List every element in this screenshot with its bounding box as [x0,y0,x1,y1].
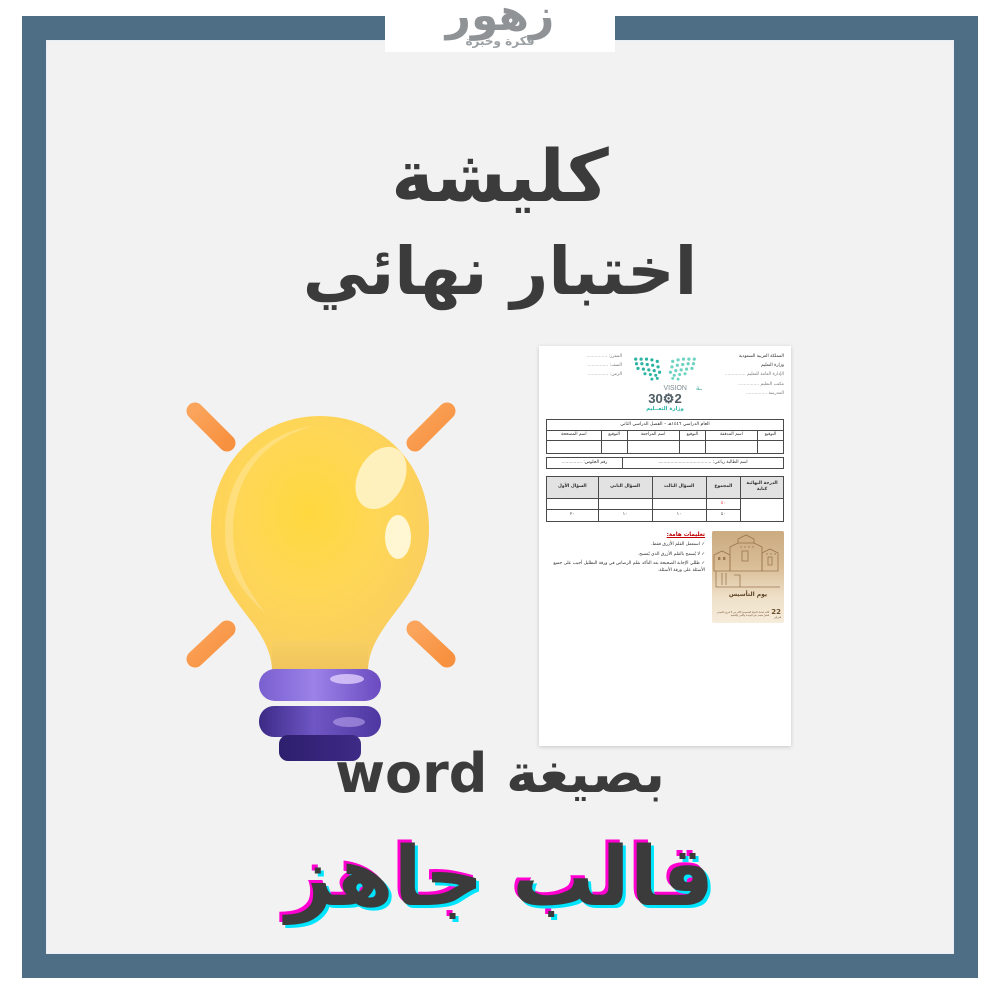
marks-q2-written[interactable] [598,498,652,510]
subtitle-format: بصيغة word [47,746,953,803]
doc-header-left-2: الزمن: ............... [546,372,622,379]
sig-head-4: التوقيع [601,430,627,440]
marks-head-3: السؤال الثاني [598,476,652,498]
exam-instructions: تعليمات هامة: ✓ استعمل القلم الأزرق فقط.… [546,531,707,577]
marks-q3-written[interactable] [652,498,706,510]
vision-ministry: وزارة التعــليم [646,406,684,412]
instruction-item-1: ✓ لا يُسمح بالقلم الأزرق الذي يُمسح. [546,552,705,558]
founding-day-label: يوم التأسيس [712,590,784,599]
bulb-cap-gloss-1 [330,674,364,684]
founding-day-date: 22 فبراير تأكيد امتداد الدولة السعودية ل… [715,609,781,619]
marks-q1-value: ٢٠ [547,510,599,522]
doc-header: المملكة العربية السعودية وزارة التعليم ا… [546,354,784,416]
sig-cell[interactable] [679,441,705,454]
marks-q3-value: ١٠ [652,510,706,522]
sig-head-3: اسم المراجعة [627,430,679,440]
poster-inner-page: كليشة اختبار نهائي [46,40,954,954]
marks-total-written[interactable]: ٤٠ [706,498,740,510]
table-row: الدرجة النهائية كتابة المجموع السؤال الث… [547,476,784,498]
marks-q2-value: ١٠ [598,510,652,522]
doc-header-right-3: مكتب التعليم ............... [708,382,784,389]
bulb-highlight-small [385,515,411,559]
lightbulb-illustration [155,341,495,761]
doc-header-right-2: الإدارة العامة للتعليم ............... [708,372,784,379]
founding-day-illustration: يوم التأسيس 22 فبراير تأكيد امتداد الدول… [712,531,784,623]
seat-number-field[interactable]: رقم الجلوس: ............... [547,458,623,468]
vision-2030-logo: VISION رؤيــة 2⚙30 وزارة التعــليم [628,354,702,412]
founding-day-note: تأكيد امتداد الدولة السعودية لأكثر من 3 … [715,611,769,617]
page-title-line2: اختبار نهائي [47,237,953,306]
instruction-text-2: ظللي الإجابة الصحيحة بعد التأكد بقلم الر… [553,561,705,572]
sig-cell[interactable] [627,441,679,454]
sig-head-5: اسم المصححة [547,430,602,440]
doc-footer: يوم التأسيس 22 فبراير تأكيد امتداد الدول… [546,531,784,623]
table-row: التوقيع اسم المدققة التوقيع اسم المراجعة… [547,430,784,440]
sig-head-1: اسم المدققة [705,430,757,440]
poster-canvas: كليشة اختبار نهائي [0,0,1000,1000]
bulb-cap-ring-1 [259,669,381,701]
marks-table[interactable]: الدرجة النهائية كتابة المجموع السؤال الث… [546,476,784,522]
table-row: ٤٠ [547,498,784,510]
marks-head-2: السؤال الثالث [652,476,706,498]
signature-table[interactable]: العام الدراسي ١٤٤٦هـ – الفصل الدراسي الث… [546,419,784,454]
student-id-table[interactable]: اسم الطالبة رباعي: .....................… [546,457,784,468]
instructions-title: تعليمات هامة: [546,531,705,539]
doc-header-right-0: المملكة العربية السعودية [708,354,784,361]
vision-year: 2⚙30 [648,391,682,406]
check-icon: ✓ [701,542,705,547]
instruction-text-1: لا يُسمح بالقلم الأزرق الذي يُمسح. [638,552,700,557]
instruction-item-0: ✓ استعمل القلم الأزرق فقط. [546,542,705,548]
subtitle-ready-template: قالب جاهز [47,835,953,921]
sig-head-0: التوقيع [757,430,783,440]
doc-header-left: المقرر: ............... الصف: ..........… [546,354,622,382]
instruction-item-2: ✓ ظللي الإجابة الصحيحة بعد التأكد بقلم ا… [546,561,705,574]
sig-head-2: التوقيع [679,430,705,440]
doc-header-left-1: الصف: ............... [546,363,622,370]
sig-cell[interactable] [601,441,627,454]
table-row [547,441,784,454]
doc-header-right-4: المدرسة ............... [708,391,784,398]
sig-cell[interactable] [547,441,602,454]
signature-table-title: العام الدراسي ١٤٤٦هـ – الفصل الدراسي الث… [547,420,784,431]
doc-header-right-1: وزارة التعليم [708,363,784,370]
instruction-text-0: استعمل القلم الأزرق فقط. [651,542,700,547]
page-title-line1: كليشة [47,139,953,215]
check-icon: ✓ [701,552,705,557]
marks-q1-written[interactable] [547,498,599,510]
sig-cell[interactable] [757,441,783,454]
founding-day-month: فبراير [771,616,781,619]
table-row: العام الدراسي ١٤٤٦هـ – الفصل الدراسي الث… [547,420,784,431]
bulb-neck [272,641,368,671]
marks-head-4: السؤال الأول [547,476,599,498]
sig-cell[interactable] [705,441,757,454]
vision-dot-wing-right [669,357,696,380]
marks-final-cell[interactable] [741,498,784,521]
table-row: اسم الطالبة رباعي: .....................… [547,458,784,468]
exam-template-preview[interactable]: المملكة العربية السعودية وزارة التعليم ا… [539,346,791,746]
bulb-cap-gloss-2 [333,717,365,727]
doc-header-left-0: المقرر: ............... [546,354,622,361]
vision-dot-wing-left [634,357,661,380]
doc-header-right: المملكة العربية السعودية وزارة التعليم ا… [708,354,784,400]
vision-word-ar: رؤيــة [696,384,702,392]
marks-head-0: الدرجة النهائية كتابة [741,476,784,498]
student-name-field[interactable]: اسم الطالبة رباعي: .....................… [622,458,783,468]
check-icon: ✓ [701,561,705,566]
marks-head-1: المجموع [706,476,740,498]
marks-total-value: ٤٠ [706,510,740,522]
